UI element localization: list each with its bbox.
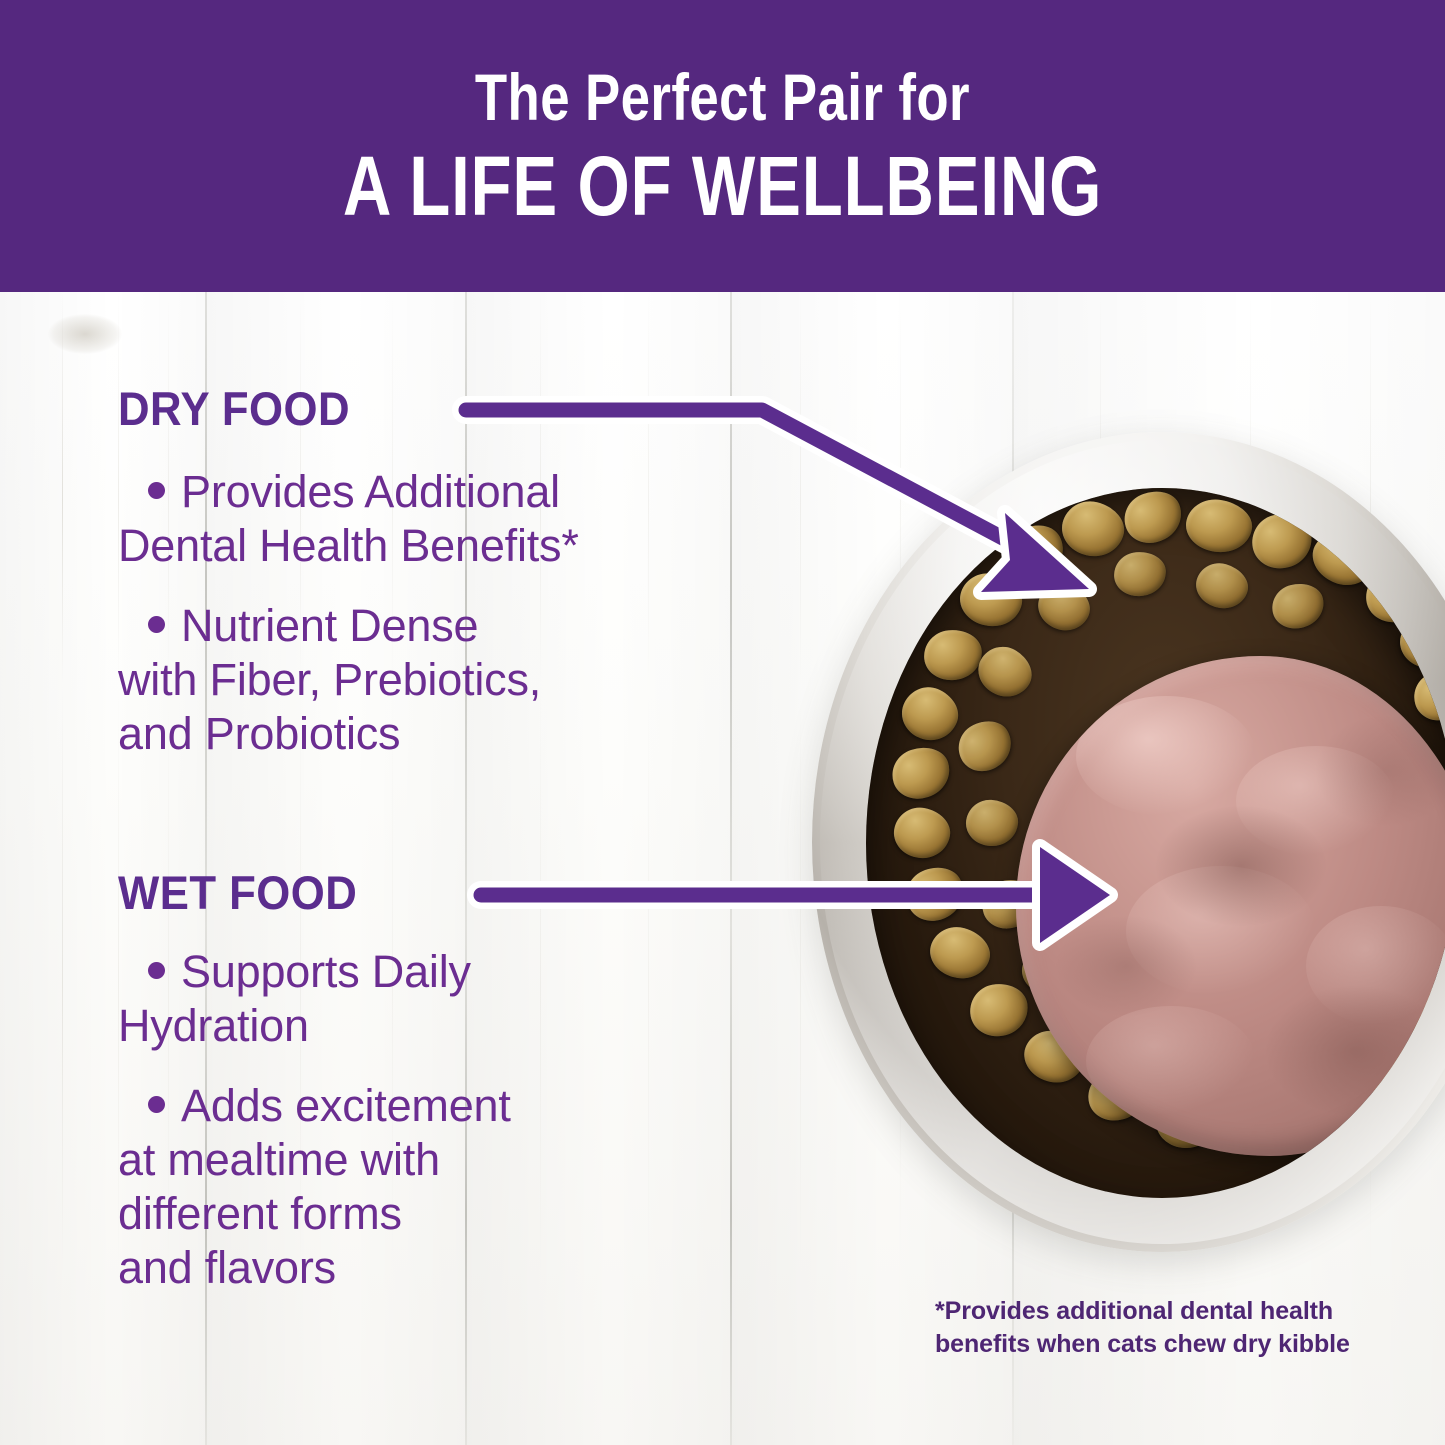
footnote-line-2: benefits when cats chew dry kibble bbox=[935, 1328, 1350, 1361]
dry-food-bullets: Provides Additional Dental Health Benefi… bbox=[118, 465, 778, 761]
footnote-line-1: *Provides additional dental health bbox=[935, 1295, 1350, 1328]
bullet-dot-icon bbox=[148, 962, 165, 979]
bullet-dot-icon bbox=[148, 1096, 165, 1113]
wet-food-section: WET FOOD bbox=[118, 869, 375, 916]
bullet-dot-icon bbox=[148, 616, 165, 633]
wet-food-pate bbox=[1016, 656, 1445, 1156]
bullet-text: Hydration bbox=[118, 1000, 309, 1051]
bullet-text: different forms bbox=[118, 1188, 402, 1239]
bullet-text: Provides Additional bbox=[181, 466, 560, 517]
list-item: Adds excitement at mealtime with differe… bbox=[118, 1079, 778, 1295]
dry-food-section: DRY FOOD bbox=[118, 385, 367, 432]
wet-food-heading: WET FOOD bbox=[118, 869, 357, 916]
product-infographic: The Perfect Pair for A LIFE OF WELLBEING bbox=[0, 0, 1445, 1445]
header-banner: The Perfect Pair for A LIFE OF WELLBEING bbox=[0, 0, 1445, 292]
footnote: *Provides additional dental health benef… bbox=[935, 1295, 1350, 1360]
bullet-dot-icon bbox=[148, 482, 165, 499]
list-item: Supports Daily Hydration bbox=[118, 945, 778, 1053]
bullet-text: and flavors bbox=[118, 1242, 336, 1293]
list-item: Nutrient Dense with Fiber, Prebiotics, a… bbox=[118, 599, 778, 761]
bullet-text: Adds excitement bbox=[181, 1080, 511, 1131]
header-subtitle: The Perfect Pair for bbox=[475, 64, 970, 130]
wet-food-bullets: Supports Daily Hydration Adds excitement… bbox=[118, 945, 778, 1295]
list-item: Provides Additional Dental Health Benefi… bbox=[118, 465, 778, 573]
bullet-text: with Fiber, Prebiotics, bbox=[118, 654, 541, 705]
bowl-interior bbox=[866, 488, 1445, 1198]
bullet-text: Dental Health Benefits* bbox=[118, 520, 579, 571]
dry-food-heading: DRY FOOD bbox=[118, 385, 350, 432]
bullet-text: Supports Daily bbox=[181, 946, 471, 997]
bullet-text: at mealtime with bbox=[118, 1134, 440, 1185]
food-bowl-photo bbox=[812, 432, 1445, 1252]
bullet-text: Nutrient Dense bbox=[181, 600, 478, 651]
header-title: A LIFE OF WELLBEING bbox=[343, 144, 1102, 228]
bullet-text: and Probiotics bbox=[118, 708, 400, 759]
